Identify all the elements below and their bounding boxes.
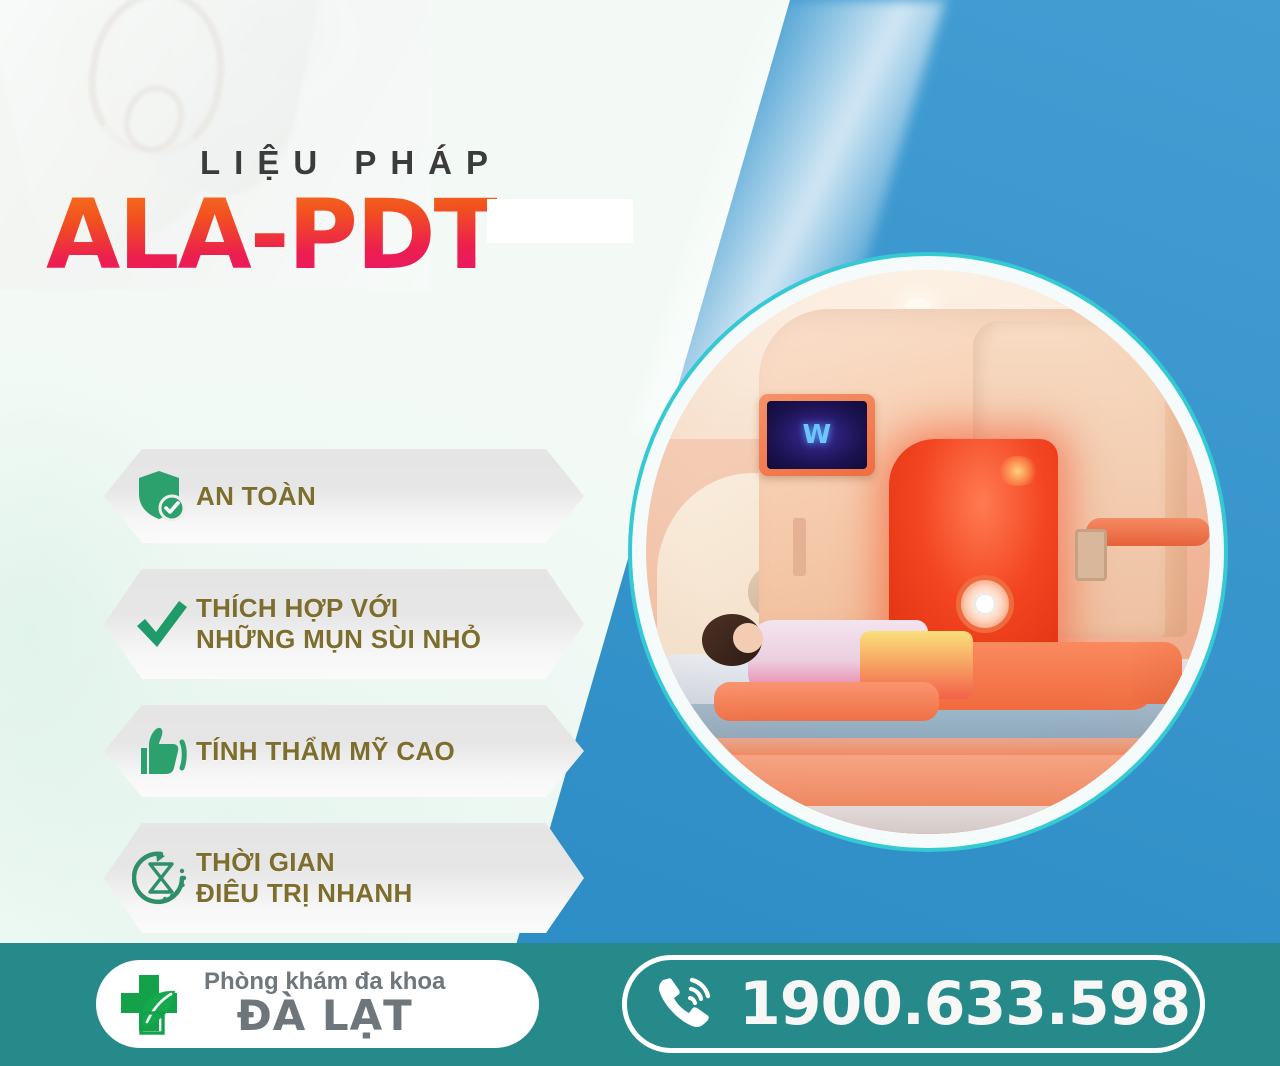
feature-badge-label: THỜI GIAN ĐIÊU TRỊ NHANH: [196, 847, 413, 908]
clinic-logo-pill[interactable]: Phòng khám đa khoa ĐÀ LẠT: [96, 960, 539, 1048]
hero-circle-ring: W: [628, 252, 1228, 852]
feature-badge-an-toan[interactable]: AN TOÀN: [104, 449, 584, 543]
feature-label-line1: THÍCH HỢP VỚI: [196, 593, 481, 624]
thumbs-up-icon: [104, 726, 196, 776]
feature-label-line1: TÍNH THẨM MỸ CAO: [196, 736, 455, 766]
phone-number: 1900.633.598: [739, 974, 1190, 1034]
headline-brand: ALA-PDT: [46, 187, 497, 283]
feature-badge-tham-my[interactable]: TÍNH THẨM MỸ CAO: [104, 705, 584, 797]
photo-vignette: [646, 270, 1210, 834]
feature-label-line1: AN TOÀN: [196, 481, 316, 511]
shield-check-icon: [104, 469, 196, 523]
blank-white-patch: [487, 199, 633, 243]
feature-badge-list: AN TOÀN THÍCH HỢP VỚI NHỮNG MỤN SÙI NHỎ: [104, 449, 584, 959]
feature-label-line2: NHỮNG MỤN SÙI NHỎ: [196, 624, 481, 655]
phone-cta-pill[interactable]: 1900.633.598: [622, 955, 1205, 1053]
check-mark-icon: [104, 597, 196, 651]
feature-badge-thich-hop[interactable]: THÍCH HỢP VỚI NHỮNG MỤN SÙI NHỎ: [104, 569, 584, 679]
feature-badge-label: TÍNH THẨM MỸ CAO: [196, 736, 455, 767]
hero-treatment-photo: W: [646, 270, 1210, 834]
feature-badge-thoi-gian[interactable]: THỜI GIAN ĐIÊU TRỊ NHANH: [104, 823, 584, 933]
footer-bar: Phòng khám đa khoa ĐÀ LẠT 1900.633.598: [0, 943, 1280, 1066]
hourglass-time-icon: [104, 849, 196, 907]
headline-kicker: LIỆU PHÁP: [200, 146, 680, 179]
feature-label-line2: ĐIÊU TRỊ NHANH: [196, 878, 413, 909]
feature-badge-label: THÍCH HỢP VỚI NHỮNG MỤN SÙI NHỎ: [196, 593, 481, 654]
feature-badge-label: AN TOÀN: [196, 481, 316, 512]
clinic-name: ĐÀ LẠT: [204, 994, 445, 1038]
clinic-name-block: Phòng khám đa khoa ĐÀ LẠT: [204, 970, 469, 1038]
medical-cross-leaf-icon: [96, 967, 204, 1041]
feature-label-line1: THỜI GIAN: [196, 847, 413, 878]
phone-ringing-icon: [627, 971, 739, 1037]
headline-brand-wrap: ALA-PDT: [40, 187, 680, 283]
poster-canvas: LIỆU PHÁP ALA-PDT AN TOÀN: [0, 0, 1280, 1066]
headline-block: LIỆU PHÁP ALA-PDT: [40, 146, 680, 283]
